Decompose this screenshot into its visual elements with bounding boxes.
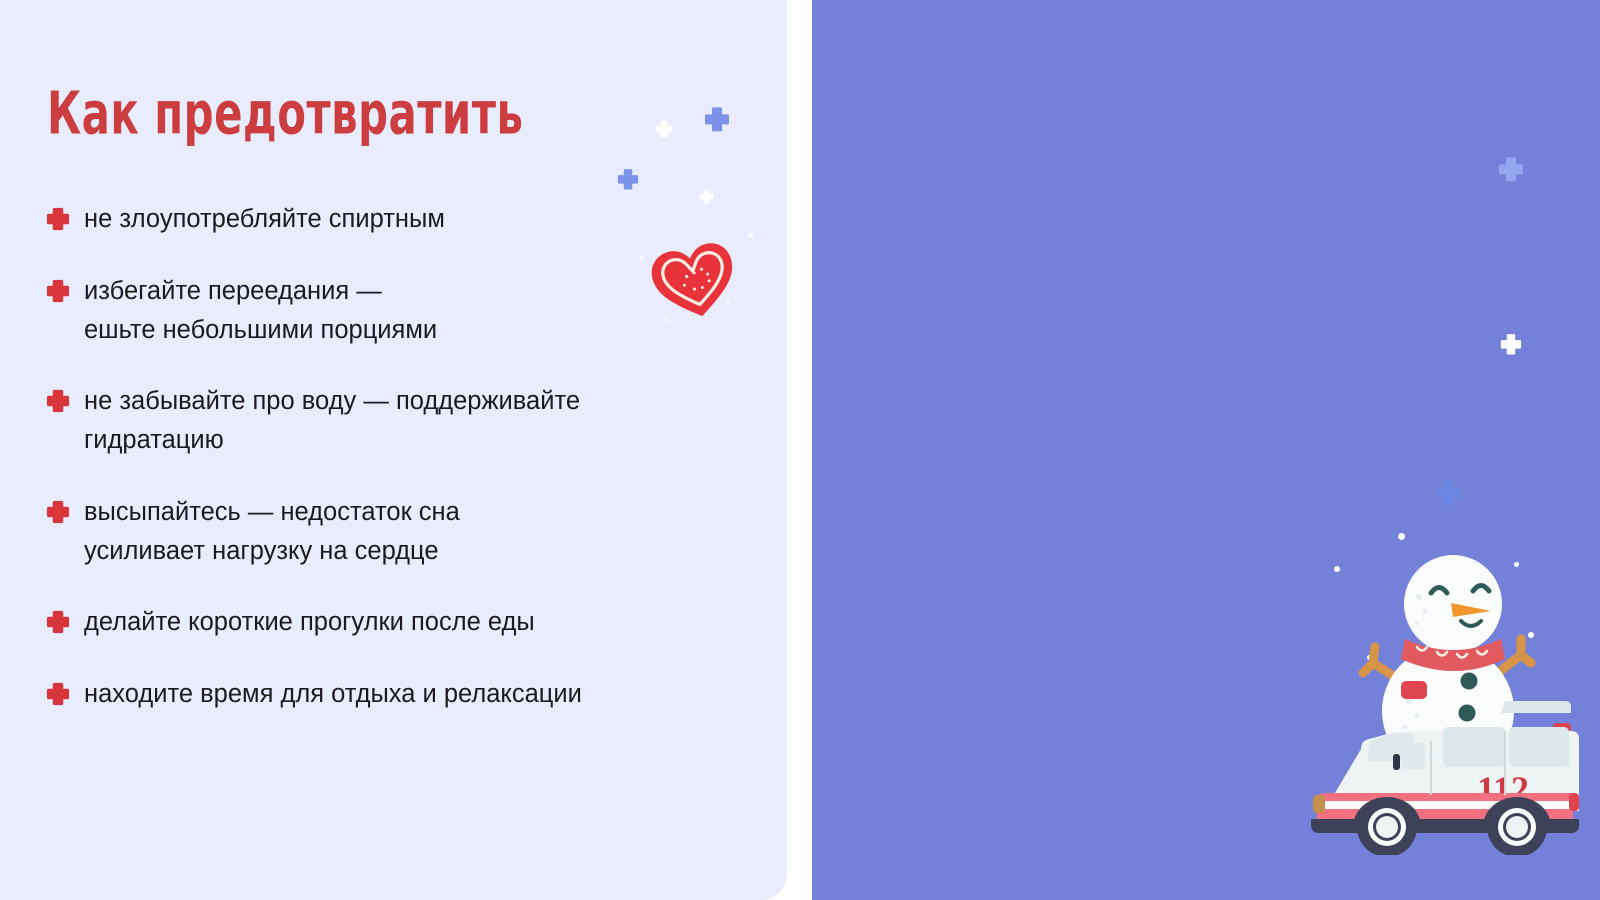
white-cross-decor <box>1500 333 1522 355</box>
red-cross-icon <box>46 500 70 524</box>
list-item: избегайте переедания — ешьте небольшими … <box>46 272 756 350</box>
blue-cross-decor-roof <box>1435 479 1462 506</box>
left-panel-title: Как предотвратить <box>47 84 523 143</box>
light-blue-cross-decor <box>1498 156 1524 182</box>
list-item: делайте короткие прогулки после еды <box>46 603 756 642</box>
list-item-text: избегайте переедания — ешьте небольшими … <box>84 272 437 350</box>
list-item-text: высыпайтесь — недостаток сна усиливает н… <box>84 493 460 571</box>
list-item: высыпайтесь — недостаток сна усиливает н… <box>46 493 756 571</box>
list-item-text: не забывайте про воду — поддерживайте ги… <box>84 382 580 460</box>
list-item-text: делайте короткие прогулки после еды <box>84 603 535 642</box>
list-item: не забывайте про воду — поддерживайте ги… <box>46 382 756 460</box>
infographic-poster: Как предотвратить <box>0 0 1600 900</box>
red-cross-icon <box>46 682 70 706</box>
list-item-text: не злоупотребляйте спиртным <box>84 200 445 239</box>
list-item-text: находите время для отдыха и релаксации <box>84 675 582 714</box>
red-cross-icon <box>46 279 70 303</box>
red-cross-icon <box>46 389 70 413</box>
ambulance-with-snowman-illustration: 112 <box>1205 505 1600 855</box>
blue-cross-decor-2 <box>617 168 639 190</box>
list-item: находите время для отдыха и релаксации <box>46 675 756 714</box>
prevention-list: не злоупотребляйте спиртным избегайте пе… <box>46 200 756 714</box>
red-cross-icon <box>46 207 70 231</box>
left-panel: Как предотвратить <box>0 0 787 900</box>
list-item: не злоупотребляйте спиртным <box>46 200 756 239</box>
blue-cross-decor-1 <box>704 106 730 132</box>
white-cross-decor-1 <box>655 120 673 138</box>
red-cross-icon <box>46 610 70 634</box>
